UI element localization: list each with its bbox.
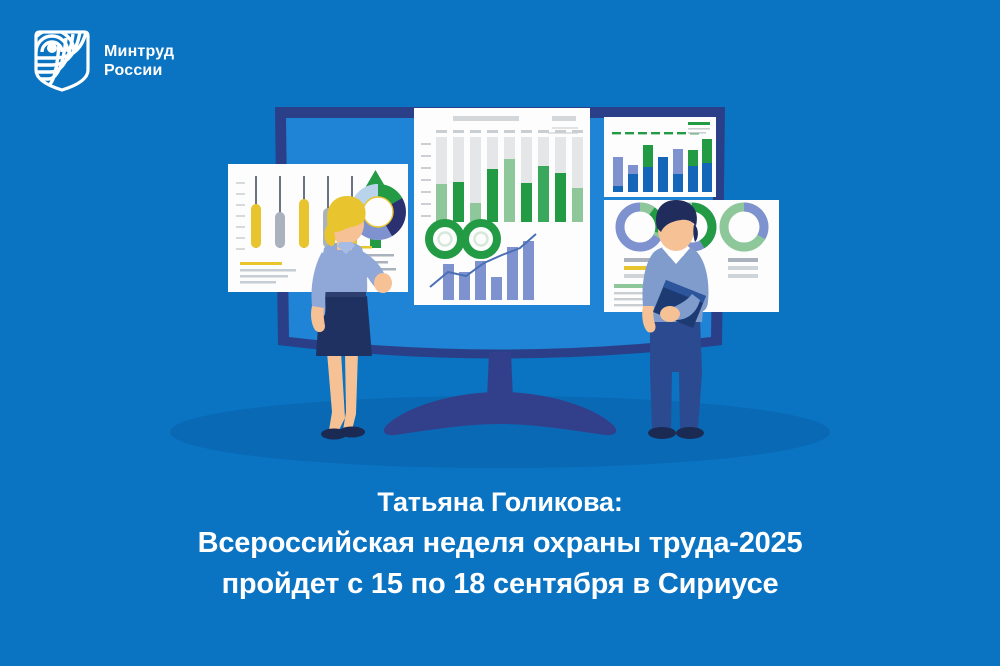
donut-3-legend: [728, 258, 758, 278]
poster-canvas: Минтруд России Татьяна Голикова: Всеросс…: [0, 0, 1000, 666]
monitor-stand: [384, 352, 616, 435]
center-main-panel: [414, 108, 590, 305]
man-shoe-right: [676, 427, 704, 439]
center-title-bar: [453, 116, 519, 121]
center-title-bar-right: [552, 116, 576, 121]
woman-fist: [374, 273, 392, 293]
headline-line-3: пройдет с 15 по 18 сентября в Сириусе: [0, 564, 1000, 605]
headline-line-1: Татьяна Голикова:: [0, 482, 1000, 523]
woman-shoe-right: [339, 427, 365, 438]
top-right-dashed-line: [612, 132, 699, 134]
brand-line-2: России: [104, 61, 174, 80]
headline-line-2: Всероссийская неделя охраны труда-2025: [0, 523, 1000, 564]
man-shoe-left: [648, 427, 676, 439]
mintrud-shield-logo-icon: [34, 30, 90, 92]
headline-block: Татьяна Голикова: Всероссийская неделя о…: [0, 482, 1000, 605]
brand-line-1: Минтруд: [104, 42, 174, 61]
center-green-progress-bars: [436, 130, 583, 222]
brand-logo-text: Минтруд России: [104, 42, 174, 80]
top-right-stacked-panel: [604, 117, 716, 197]
brand-logo: Минтруд России: [34, 30, 174, 92]
